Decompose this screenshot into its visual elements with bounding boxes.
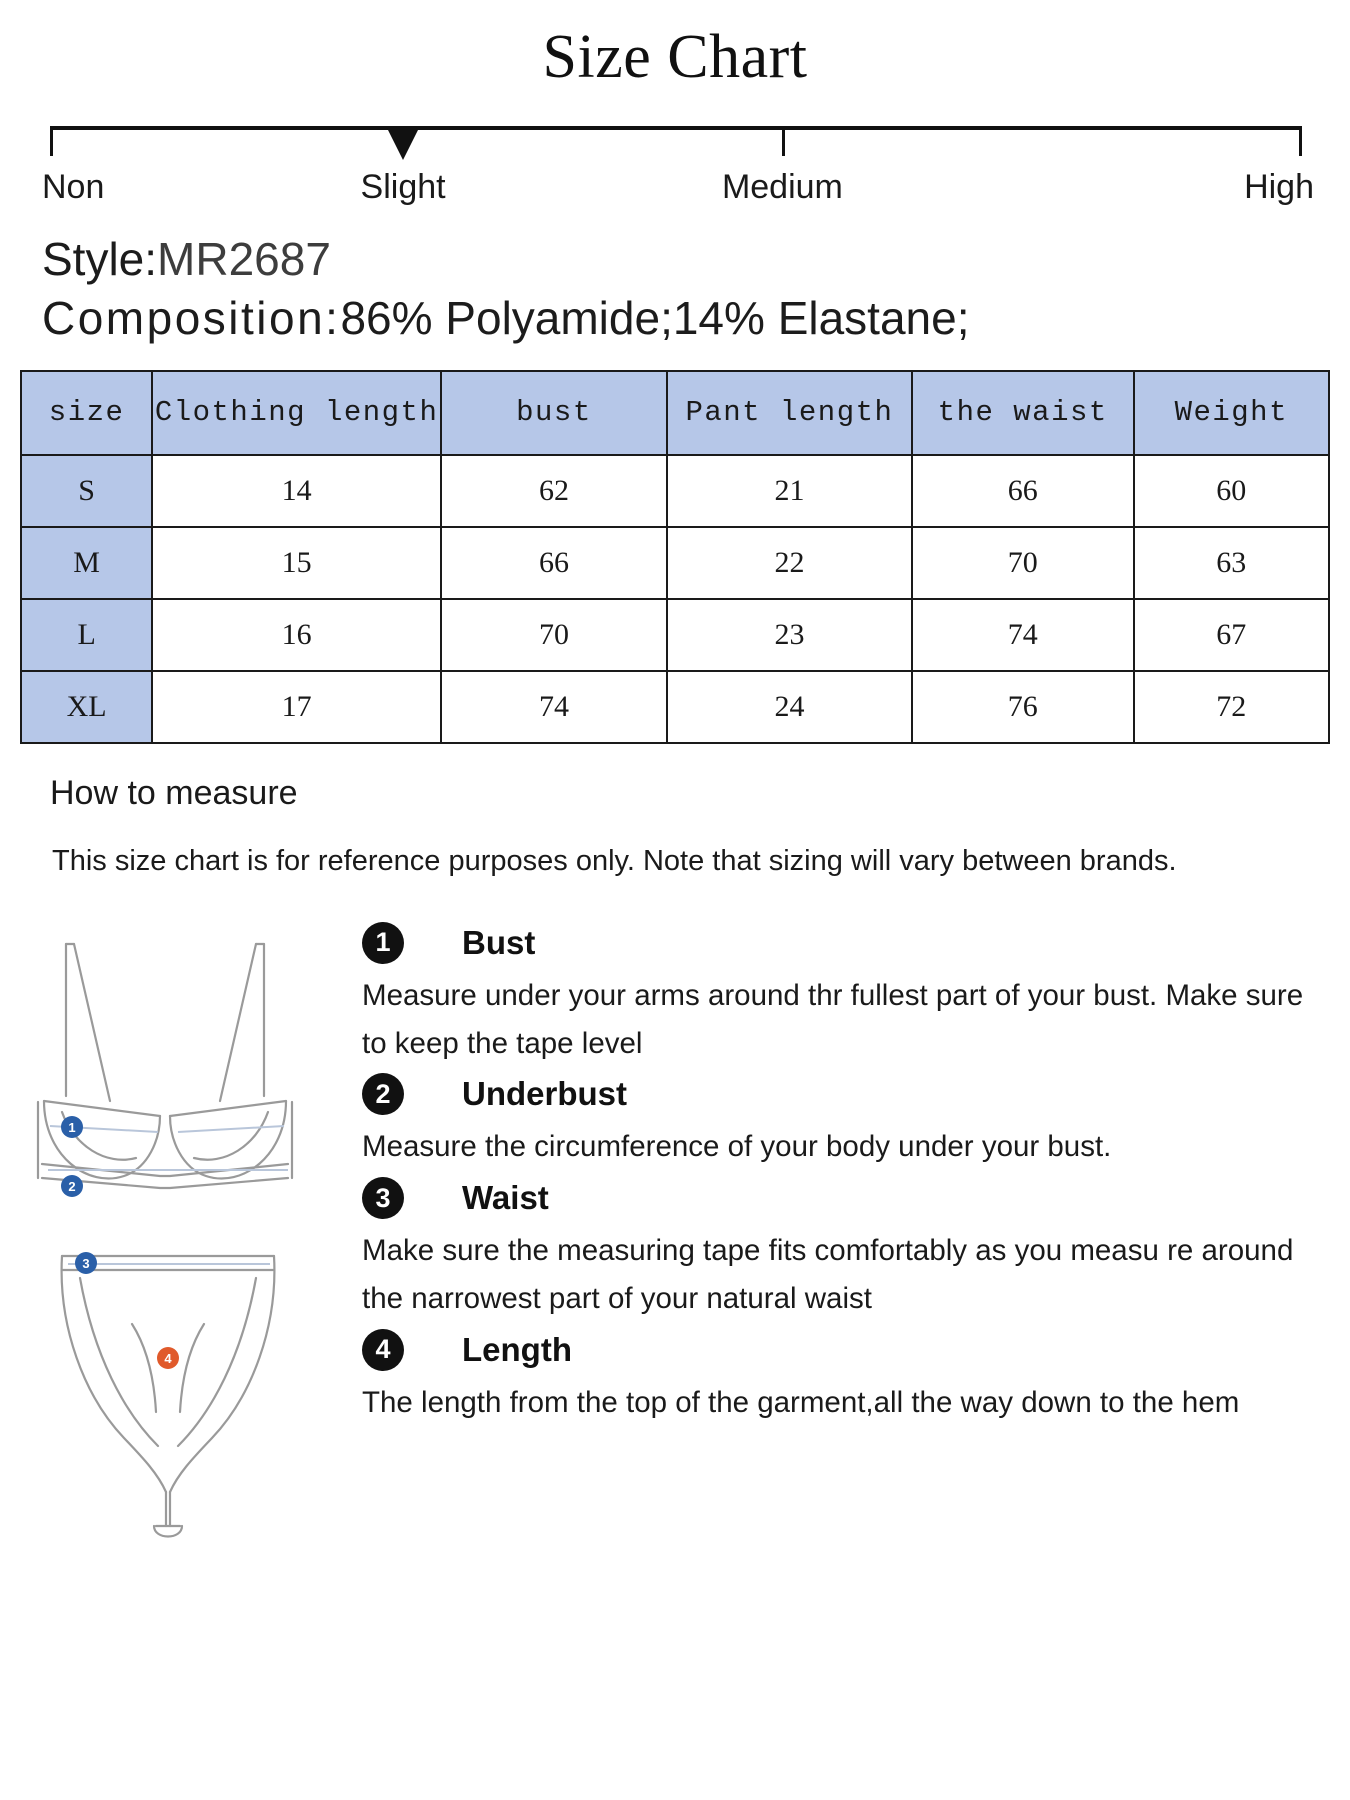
cell-waist: 76 — [912, 671, 1134, 743]
composition-value: 86% Polyamide;14% Elastane; — [340, 292, 969, 344]
col-header-weight: Weight — [1134, 371, 1329, 455]
stretch-scale: Non Slight Medium High — [50, 126, 1302, 212]
step-3-number-badge: 3 — [362, 1177, 404, 1219]
cell-pant-length: 23 — [667, 599, 912, 671]
style-row: Style:MR2687 — [42, 230, 1350, 289]
col-header-clothing-length: Clothing length — [152, 371, 441, 455]
cell-pant-length: 24 — [667, 671, 912, 743]
scale-selected-marker-triangle-icon — [387, 128, 419, 160]
cell-size: S — [21, 455, 152, 527]
step-4-body: The length from the top of the garment,a… — [362, 1379, 1310, 1427]
cell-size: XL — [21, 671, 152, 743]
step-1-title: Bust — [462, 924, 535, 962]
scale-tick-medium — [782, 126, 785, 156]
cell-weight: 72 — [1134, 671, 1329, 743]
step-1-head: 1 Bust — [362, 922, 1310, 964]
cell-clothing-length: 16 — [152, 599, 441, 671]
illus-marker-4: 4 — [157, 1347, 179, 1369]
howto-heading: How to measure — [50, 774, 1350, 813]
measure-steps: 1 Bust Measure under your arms around th… — [350, 916, 1350, 1427]
style-label: Style: — [42, 233, 157, 285]
step-2-title: Underbust — [462, 1075, 627, 1113]
cell-waist: 70 — [912, 527, 1134, 599]
cell-pant-length: 22 — [667, 527, 912, 599]
step-1-number-badge: 1 — [362, 922, 404, 964]
cell-pant-length: 21 — [667, 455, 912, 527]
step-3-head: 3 Waist — [362, 1177, 1310, 1219]
col-header-bust: bust — [441, 371, 667, 455]
cell-bust: 66 — [441, 527, 667, 599]
table-row: M 15 66 22 70 63 — [21, 527, 1329, 599]
cell-weight: 60 — [1134, 455, 1329, 527]
table-header-row: size Clothing length bust Pant length th… — [21, 371, 1329, 455]
scale-label-non: Non — [42, 168, 104, 207]
size-table-wrap: size Clothing length bust Pant length th… — [20, 370, 1330, 744]
col-header-pant-length: Pant length — [667, 371, 912, 455]
scale-tick-high — [1299, 126, 1302, 156]
svg-text:2: 2 — [68, 1179, 75, 1194]
garment-illustration: 1 2 3 4 — [0, 916, 350, 1551]
illus-marker-2: 2 — [61, 1175, 83, 1197]
cell-weight: 63 — [1134, 527, 1329, 599]
step-2-head: 2 Underbust — [362, 1073, 1310, 1115]
table-row: L 16 70 23 74 67 — [21, 599, 1329, 671]
cell-clothing-length: 17 — [152, 671, 441, 743]
composition-row: Composition:86% Polyamide;14% Elastane; — [42, 289, 1350, 348]
step-4-title: Length — [462, 1331, 572, 1369]
cell-size: L — [21, 599, 152, 671]
illus-marker-3: 3 — [75, 1252, 97, 1274]
cell-waist: 74 — [912, 599, 1134, 671]
scale-label-high: High — [1244, 168, 1314, 207]
cell-size: M — [21, 527, 152, 599]
col-header-size: size — [21, 371, 152, 455]
scale-axis-line — [50, 126, 1302, 130]
page-title: Size Chart — [0, 0, 1350, 88]
step-2-body: Measure the circumference of your body u… — [362, 1123, 1310, 1171]
cell-waist: 66 — [912, 455, 1134, 527]
style-value: MR2687 — [157, 233, 331, 285]
step-1-body: Measure under your arms around thr fulle… — [362, 972, 1310, 1068]
garment-diagram-icon: 1 2 3 4 — [28, 926, 348, 1546]
table-row: S 14 62 21 66 60 — [21, 455, 1329, 527]
step-4-number-badge: 4 — [362, 1329, 404, 1371]
cell-bust: 74 — [441, 671, 667, 743]
cell-weight: 67 — [1134, 599, 1329, 671]
cell-bust: 70 — [441, 599, 667, 671]
step-3-title: Waist — [462, 1179, 549, 1217]
svg-text:3: 3 — [82, 1256, 89, 1271]
measure-guide: 1 2 3 4 1 Bust Meas — [0, 916, 1350, 1551]
composition-label: Composition: — [42, 292, 340, 344]
cell-bust: 62 — [441, 455, 667, 527]
product-meta: Style:MR2687 Composition:86% Polyamide;1… — [42, 230, 1350, 348]
illus-marker-1: 1 — [61, 1116, 83, 1138]
svg-text:4: 4 — [164, 1351, 172, 1366]
scale-tick-non — [50, 126, 53, 156]
table-row: XL 17 74 24 76 72 — [21, 671, 1329, 743]
cell-clothing-length: 14 — [152, 455, 441, 527]
size-table: size Clothing length bust Pant length th… — [20, 370, 1330, 744]
step-3-body: Make sure the measuring tape fits comfor… — [362, 1227, 1310, 1323]
step-2-number-badge: 2 — [362, 1073, 404, 1115]
col-header-the-waist: the waist — [912, 371, 1134, 455]
howto-disclaimer: This size chart is for reference purpose… — [52, 845, 1350, 878]
scale-label-group: Non Slight Medium High — [50, 168, 1302, 212]
scale-label-slight: Slight — [361, 168, 446, 207]
svg-text:1: 1 — [68, 1120, 75, 1135]
scale-label-medium: Medium — [722, 168, 843, 207]
step-4-head: 4 Length — [362, 1329, 1310, 1371]
size-chart-page: Size Chart Non Slight Medium High Style:… — [0, 0, 1350, 1800]
cell-clothing-length: 15 — [152, 527, 441, 599]
